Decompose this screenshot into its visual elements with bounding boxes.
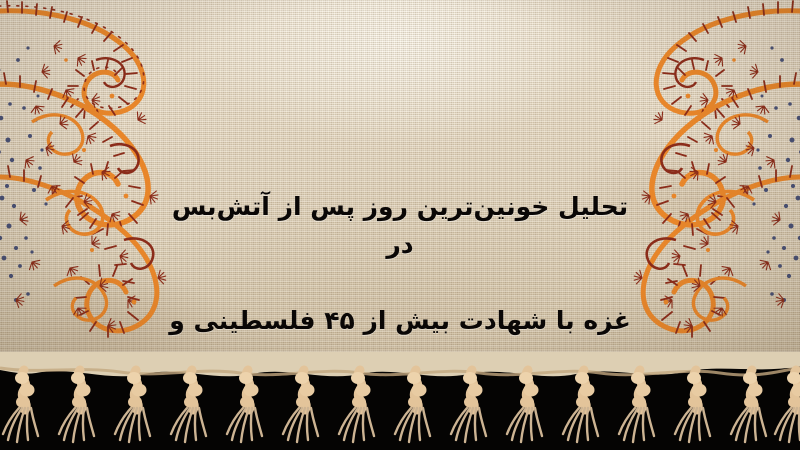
tassel-group xyxy=(3,370,800,442)
headline-line-2: غزه با شهادت بیش از ۴۵ فلسطینی و xyxy=(160,302,640,340)
tassel-fringe xyxy=(0,352,800,450)
headline-line-1: تحلیل خونین‌ترین روز پس از آتش‌بس در xyxy=(160,188,640,264)
textile-banner: تحلیل خونین‌ترین روز پس از آتش‌بس در غزه… xyxy=(0,0,800,450)
